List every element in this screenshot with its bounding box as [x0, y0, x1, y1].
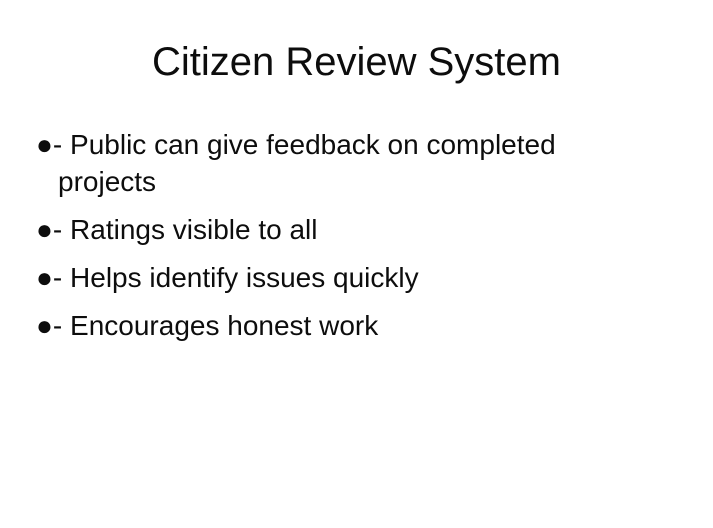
- list-item-label: Public can give feedback on completed pr…: [58, 129, 556, 197]
- bullet-point-icon: ●: [36, 310, 53, 341]
- list-item: ●- Ratings visible to all: [36, 211, 636, 248]
- bullet-point-icon: ●: [36, 262, 53, 293]
- list-item-label: Encourages honest work: [70, 310, 378, 341]
- bullet-dash-icon: -: [53, 262, 62, 293]
- list-item-label: Helps identify issues quickly: [70, 262, 419, 293]
- list-item: ●- Encourages honest work: [36, 307, 636, 344]
- bullet-dash-icon: -: [53, 214, 62, 245]
- list-item-label: Ratings visible to all: [70, 214, 317, 245]
- bullet-list: ●- Public can give feedback on completed…: [36, 126, 636, 344]
- bullet-point-icon: ●: [36, 129, 53, 160]
- bullet-dash-icon: -: [53, 129, 62, 160]
- slide-canvas: Citizen Review System ●- Public can give…: [0, 0, 713, 528]
- bullet-dash-icon: -: [53, 310, 62, 341]
- list-item: ●- Helps identify issues quickly: [36, 259, 636, 296]
- list-item: ●- Public can give feedback on completed…: [36, 126, 636, 200]
- page-title: Citizen Review System: [0, 38, 713, 86]
- bullet-point-icon: ●: [36, 214, 53, 245]
